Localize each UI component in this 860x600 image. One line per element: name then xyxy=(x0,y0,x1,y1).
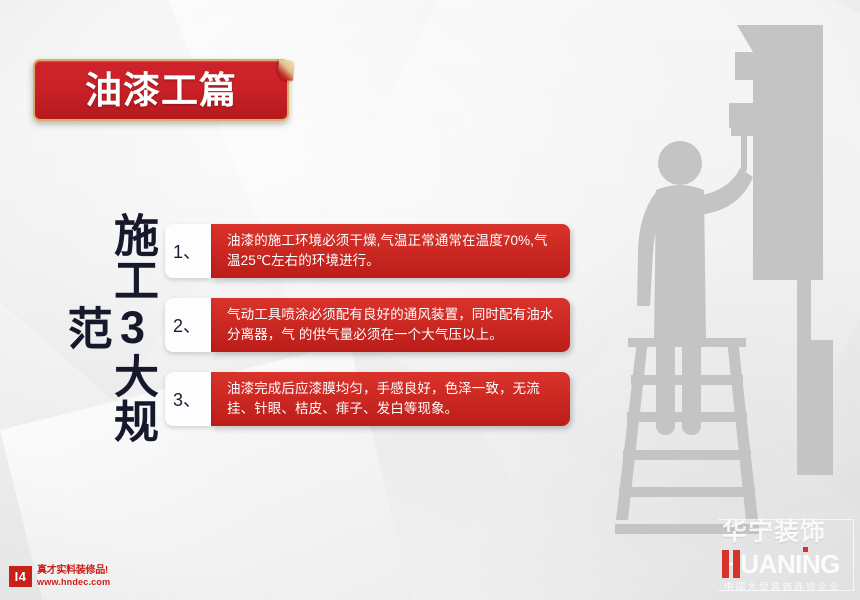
rule-number-badge: 3、 xyxy=(165,372,211,426)
ladder-rung xyxy=(619,487,755,497)
watermark-name-cn: 华宁装饰 xyxy=(722,520,826,545)
footer-logo: I4 真才实料装修品! www.hndec.com xyxy=(9,566,110,587)
ladder-rung xyxy=(628,338,746,347)
brand-watermark: 华宁装饰 HUANING 中国大型装饰连锁企业 xyxy=(718,519,854,591)
rules-list: 1、 油漆的施工环境必须干燥,气温正常通常在温度70%,气温25℃左右的环境进行… xyxy=(165,224,570,446)
section-heading-vertical: 施工3大规范 xyxy=(99,196,155,458)
watermark-dot-icon xyxy=(803,547,808,552)
footer-logo-company: 真才实料装修品! xyxy=(37,566,110,576)
brush-handle xyxy=(741,134,747,172)
ladder-rung xyxy=(631,375,743,385)
watermark-tagline: 中国大型装饰连锁企业 xyxy=(724,579,841,593)
painter-head xyxy=(658,141,702,185)
watermark-bar xyxy=(722,550,729,578)
footer-logo-mark: I4 xyxy=(9,566,32,587)
title-banner-plate: 油漆工篇 xyxy=(33,59,289,121)
list-item: 1、 油漆的施工环境必须干燥,气温正常通常在温度70%,气温25℃左右的环境进行… xyxy=(165,224,570,278)
painter-arm-up xyxy=(698,168,753,215)
rule-body: 油漆完成后应漆膜均匀，手感良好，色泽一致，无流挂、针眼、桔皮、痱子、发白等现象。 xyxy=(211,372,570,426)
rule-body: 油漆的施工环境必须干燥,气温正常通常在温度70%,气温25℃左右的环境进行。 xyxy=(211,224,570,278)
rule-text: 油漆的施工环境必须干燥,气温正常通常在温度70%,气温25℃左右的环境进行。 xyxy=(227,231,556,270)
brush-head xyxy=(729,103,761,128)
list-item: 3、 油漆完成后应漆膜均匀，手感良好，色泽一致，无流挂、针眼、桔皮、痱子、发白等… xyxy=(165,372,570,426)
ladder-rung xyxy=(627,412,747,422)
rule-number-badge: 2、 xyxy=(165,298,211,352)
watermark-bar xyxy=(733,550,740,578)
list-item: 2、 气动工具喷涂必须配有良好的通风装置，同时配有油水分离器，气 的供气量必须在… xyxy=(165,298,570,352)
rule-number-badge: 1、 xyxy=(165,224,211,278)
footer-logo-texts: 真才实料装修品! www.hndec.com xyxy=(37,566,110,587)
wall-shape xyxy=(735,25,833,475)
watermark-bars-icon xyxy=(722,550,742,578)
ladder-rung xyxy=(623,450,751,460)
footer-logo-url: www.hndec.com xyxy=(37,578,110,587)
slide-canvas: 油漆工篇 施工3大规范 1、 油漆的施工环境必须干燥,气温正常通常在温度70%,… xyxy=(0,0,860,600)
title-banner: 油漆工篇 xyxy=(33,59,289,121)
painter-illustration xyxy=(590,0,860,600)
page-title: 油漆工篇 xyxy=(85,72,237,109)
rule-text: 油漆完成后应漆膜均匀，手感良好，色泽一致，无流挂、针眼、桔皮、痱子、发白等现象。 xyxy=(227,379,556,418)
rule-text: 气动工具喷涂必须配有良好的通风装置，同时配有油水分离器，气 的供气量必须在一个大… xyxy=(227,305,556,344)
rule-body: 气动工具喷涂必须配有良好的通风装置，同时配有油水分离器，气 的供气量必须在一个大… xyxy=(211,298,570,352)
